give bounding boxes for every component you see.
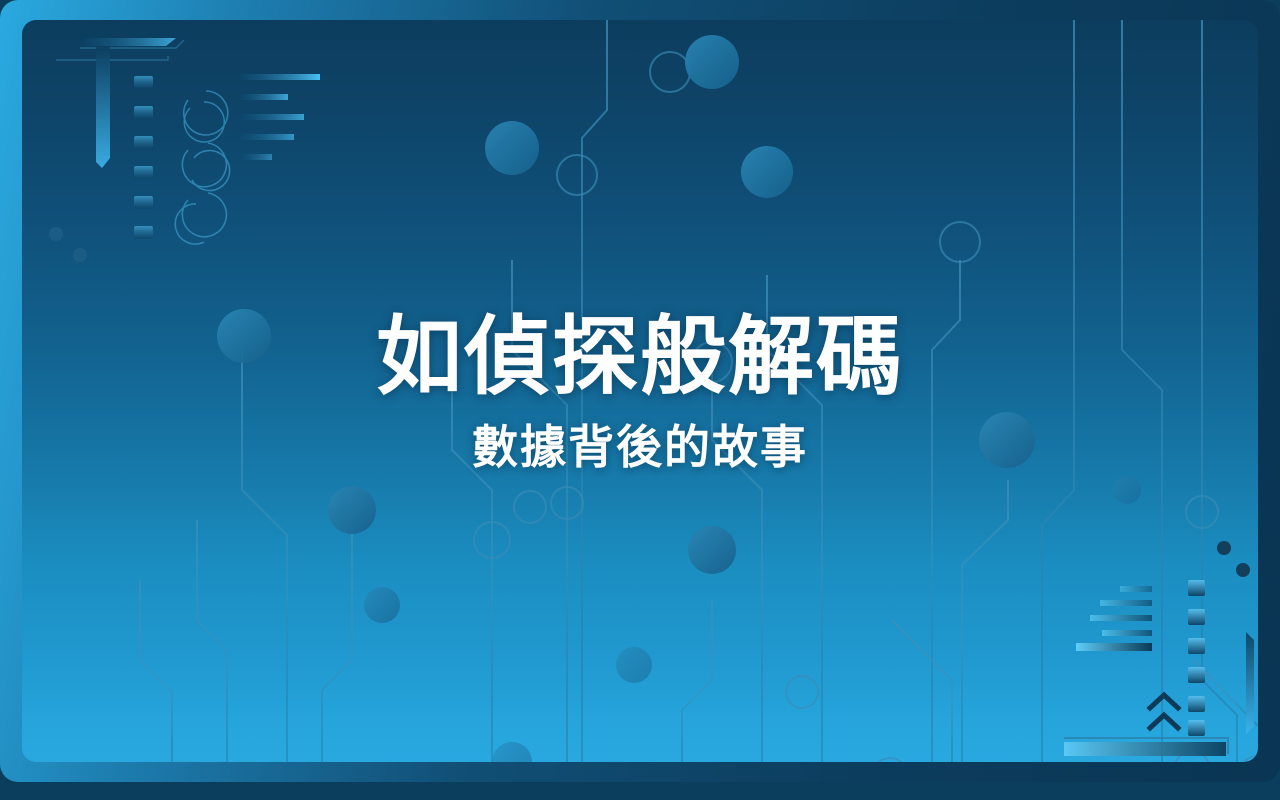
circuit-hud-top-left <box>48 38 338 278</box>
hud-squares <box>134 76 153 239</box>
slide-panel: 如偵探般解碼 數據背後的故事 <box>22 20 1258 762</box>
circuit-hud-bottom-right <box>1028 530 1258 762</box>
hud-squares <box>1188 580 1205 736</box>
chevron-up-icon <box>1150 695 1178 728</box>
page-title: 如偵探般解碼 <box>22 310 1258 405</box>
hud-arcs <box>175 91 229 244</box>
page-subtitle: 數據背後的故事 <box>22 421 1258 474</box>
hud-bars <box>1076 586 1152 651</box>
hud-bars <box>240 74 320 160</box>
slide-frame: 如偵探般解碼 數據背後的故事 <box>0 0 1280 782</box>
title-block: 如偵探般解碼 數據背後的故事 <box>22 310 1258 473</box>
